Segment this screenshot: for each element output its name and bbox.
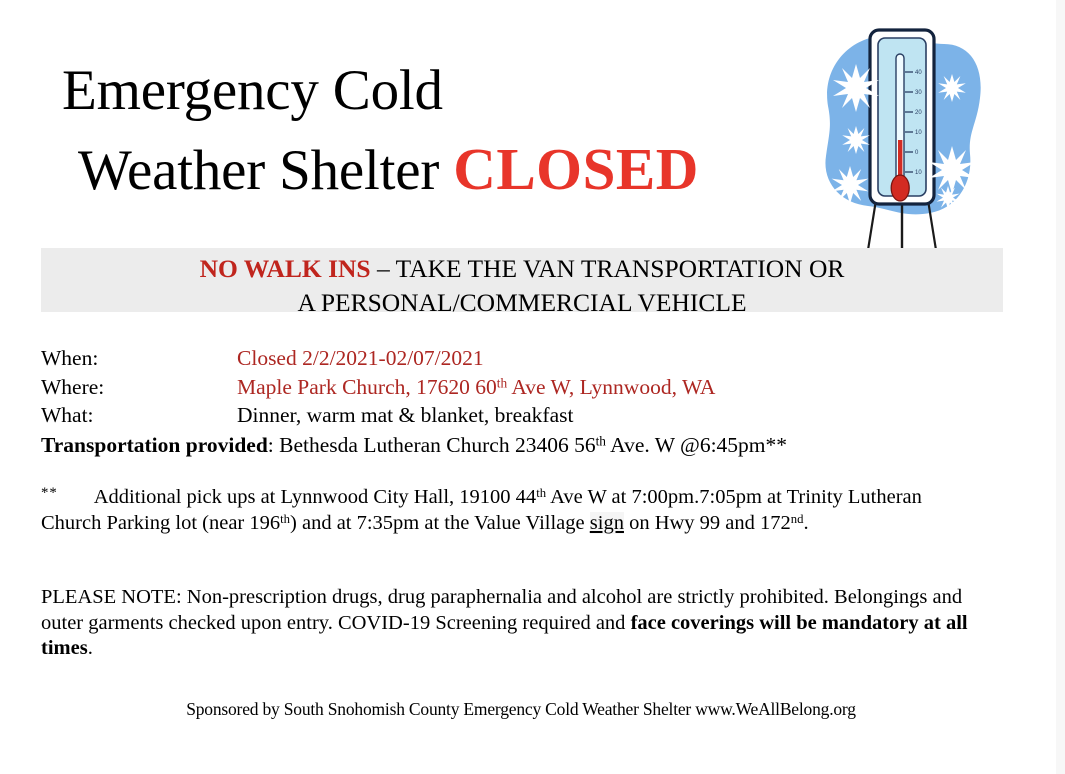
page-title: Emergency Cold Weather Shelter CLOSED <box>62 52 822 210</box>
banner-line-2: A PERSONAL/COMMERCIAL VEHICLE <box>41 286 1003 320</box>
note-text-2: . <box>88 637 93 659</box>
title-line-1: Emergency Cold <box>62 52 822 130</box>
title-line-2-text: Weather Shelter <box>78 139 453 202</box>
pickups-text-4: on Hwy 99 and 172 <box>624 512 791 534</box>
no-walk-ins-banner: NO WALK INS – TAKE THE VAN TRANSPORTATIO… <box>41 248 1003 312</box>
detail-value-where-suffix: Ave W, Lynnwood, WA <box>507 375 715 399</box>
sponsor-footer: Sponsored by South Snohomish County Emer… <box>41 699 1001 720</box>
pickups-text-5: . <box>804 512 809 534</box>
page-edge-strip <box>1056 0 1065 774</box>
footnote-marker: ** <box>41 485 58 501</box>
pickups-text-3: ) and at 7:35pm at the Value Village <box>290 512 590 534</box>
svg-text:20: 20 <box>915 110 922 116</box>
ordinal-suffix-th: th <box>596 433 606 448</box>
detail-label-what: What: <box>41 401 237 430</box>
ordinal-suffix-th: th <box>536 486 546 500</box>
thermometer-icon: 40 30 20 10 0 10 <box>812 14 992 254</box>
title-line-2: Weather Shelter CLOSED <box>62 130 822 210</box>
ordinal-suffix-th: th <box>280 511 290 525</box>
detail-row-where: Where:Maple Park Church, 17620 60th Ave … <box>41 373 1001 402</box>
svg-text:40: 40 <box>915 70 922 76</box>
transportation-text-2: Ave. W @6:45pm** <box>606 433 787 457</box>
banner-line-1: NO WALK INS – TAKE THE VAN TRANSPORTATIO… <box>41 252 1003 286</box>
transportation-line: Transportation provided: Bethesda Luther… <box>41 431 1001 460</box>
detail-label-where: Where: <box>41 373 237 402</box>
svg-text:10: 10 <box>915 170 922 176</box>
svg-text:30: 30 <box>915 90 922 96</box>
document-page: Emergency Cold Weather Shelter CLOSED <box>0 0 1056 774</box>
pickups-text-1: Additional pick ups at Lynnwood City Hal… <box>94 486 536 508</box>
detail-row-what: What:Dinner, warm mat & blanket, breakfa… <box>41 401 1001 430</box>
detail-value-what: Dinner, warm mat & blanket, breakfast <box>237 403 573 427</box>
details-block: When:Closed 2/2/2021-02/07/2021 Where:Ma… <box>41 344 1001 459</box>
status-badge-closed: CLOSED <box>453 136 699 202</box>
banner-highlight: NO WALK INS <box>200 254 371 283</box>
additional-pickups-paragraph: **Additional pick ups at Lynnwood City H… <box>41 485 971 536</box>
svg-text:10: 10 <box>915 130 922 136</box>
detail-row-when: When:Closed 2/2/2021-02/07/2021 <box>41 344 1001 373</box>
transportation-label: Transportation provided <box>41 433 268 457</box>
detail-label-when: When: <box>41 344 237 373</box>
spellcheck-underlined-word: sign <box>590 512 624 534</box>
banner-line-1-rest: – TAKE THE VAN TRANSPORTATION OR <box>371 254 845 283</box>
transportation-text-1: : Bethesda Lutheran Church 23406 56 <box>268 433 596 457</box>
please-note-paragraph: PLEASE NOTE: Non-prescription drugs, dru… <box>41 585 991 662</box>
ordinal-suffix-th: th <box>497 375 507 390</box>
detail-value-where-prefix: Maple Park Church, 17620 60 <box>237 375 497 399</box>
ordinal-suffix-nd: nd <box>791 511 804 525</box>
detail-value-where: Maple Park Church, 17620 60th Ave W, Lyn… <box>237 375 715 399</box>
detail-value-when: Closed 2/2/2021-02/07/2021 <box>237 346 484 370</box>
